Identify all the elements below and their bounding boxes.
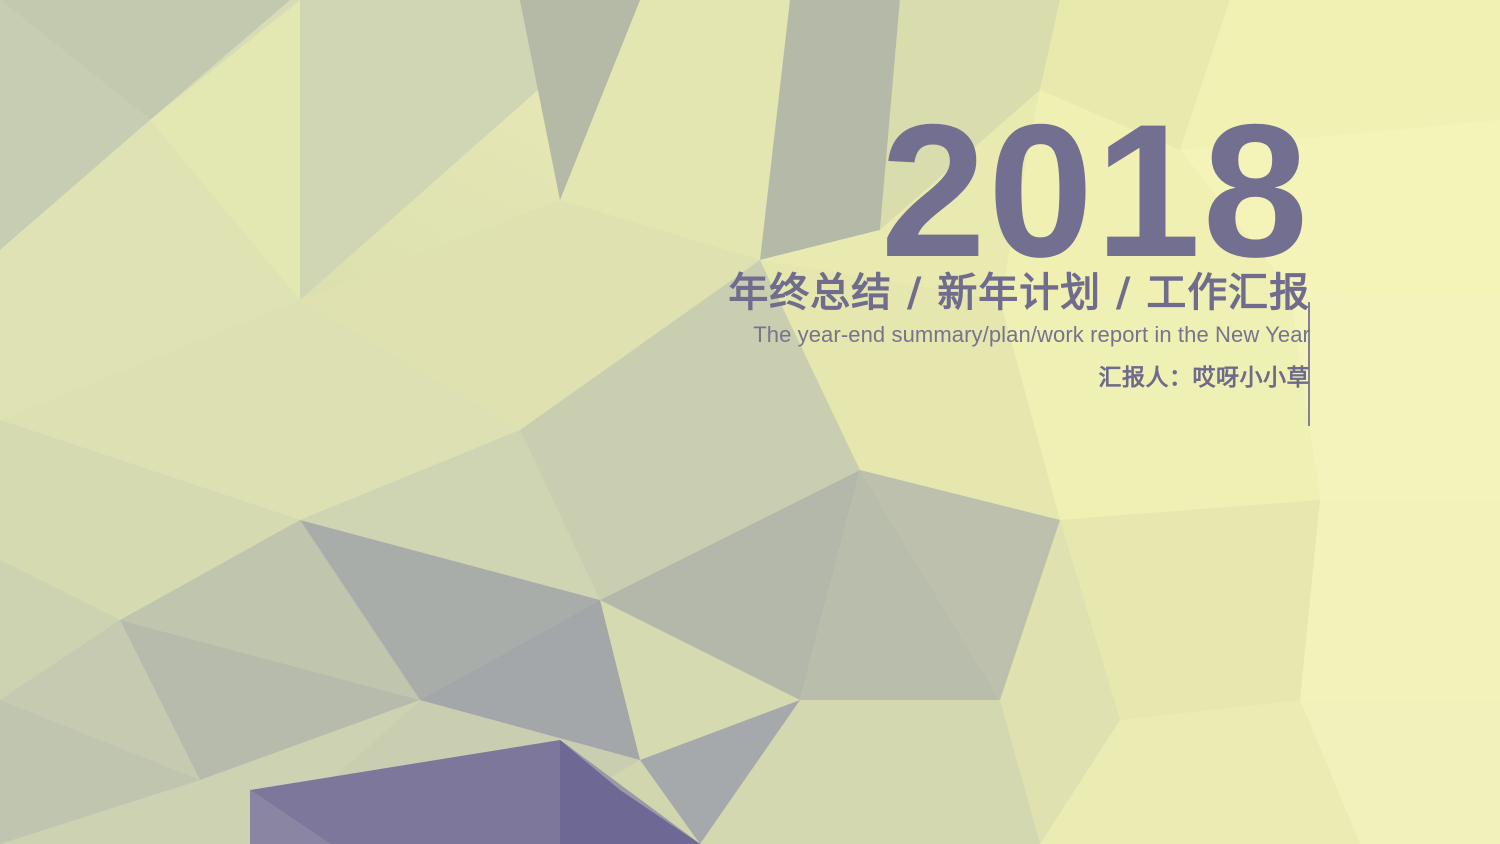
- presentation-slide: 2018 年终总结 / 新年计划 / 工作汇报 The year-end sum…: [0, 0, 1500, 844]
- polygon-group: [0, 0, 1500, 844]
- background-triangle: [1300, 500, 1500, 700]
- low-poly-background: [0, 0, 1500, 844]
- background-triangle: [1290, 290, 1500, 500]
